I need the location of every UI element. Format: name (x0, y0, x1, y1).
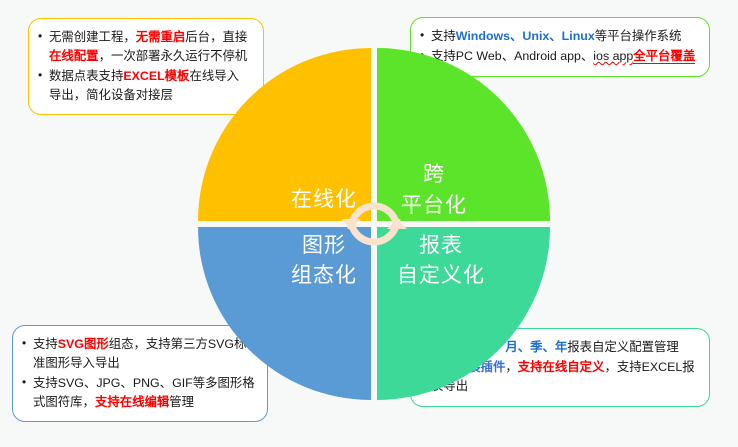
quadrant-reports[interactable]: 报表 自定义化 (377, 227, 550, 400)
quadrant-online-line1: 在线化 (291, 188, 357, 211)
quadrant-reports-line1: 报表 (419, 234, 463, 257)
infographic-canvas: 无需创建工程，无需重启后台，直接在线配置，一次部署永久运行不停机 数据点表支持E… (0, 0, 738, 447)
quadrant-graphics-line1: 图形 (302, 234, 346, 257)
quadrant-reports-label: 报表 自定义化 (397, 231, 485, 292)
quadrant-graphics[interactable]: 图形 组态化 (198, 227, 371, 400)
quadrant-cross-platform-line2: 平台化 (401, 191, 467, 221)
quadrant-reports-line2: 自定义化 (397, 261, 485, 291)
list-item: 支持Windows、Unix、Linux等平台操作系统 (420, 27, 697, 46)
quadrant-online-label: 在线化 (291, 185, 357, 215)
quadrant-cross-platform[interactable]: 跨 平台化 (377, 48, 550, 221)
quadrant-graphics-line2: 组态化 (291, 261, 357, 291)
quadrant-online[interactable]: 在线化 (198, 48, 371, 221)
quadrant-cross-platform-line1: 跨 (423, 163, 445, 186)
quadrant-graphics-label: 图形 组态化 (291, 231, 357, 292)
quadrant-cross-platform-label: 跨 平台化 (401, 160, 467, 221)
quadrant-pie: 在线化 跨 平台化 图形 组态化 报表 自定义化 (198, 48, 550, 400)
